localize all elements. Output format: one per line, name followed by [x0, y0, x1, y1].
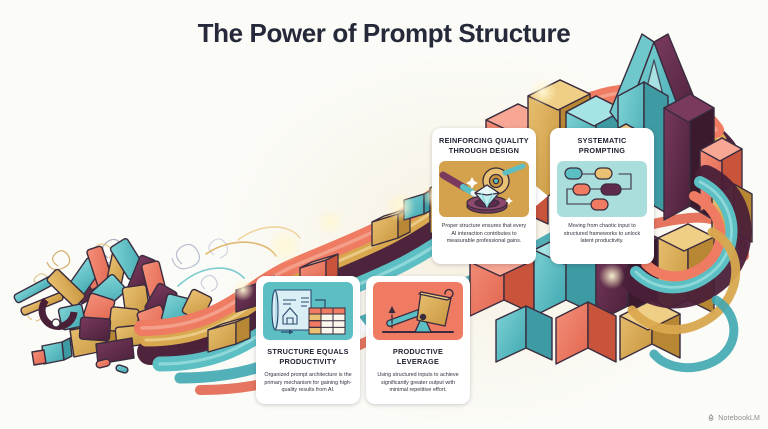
card-reinforcing-quality[interactable]: REINFORCING QUALITY THROUGH DESIGN: [432, 128, 536, 264]
card-systematic-prompting[interactable]: SYSTEMATIC PROMPTING Moving from chaotic…: [550, 128, 654, 264]
card-structure-equals-productivity[interactable]: STRUCTURE EQUALS PRODUCTIVITY Organized …: [256, 276, 360, 404]
card-body: Using structured inputs to achieve signi…: [372, 372, 464, 395]
lever-seesaw-icon: [373, 282, 463, 340]
watermark-label: NotebookLM: [718, 415, 760, 422]
card-title: PRODUCTIVE LEVERAGE: [372, 347, 464, 367]
page-title: The Power of Prompt Structure: [0, 18, 768, 49]
watermark: NotebookLM: [707, 414, 760, 422]
card-title: SYSTEMATIC PROMPTING: [556, 136, 648, 156]
infographic-canvas: The Power of Prompt Structure REINFORCIN…: [0, 0, 768, 429]
card-title: STRUCTURE EQUALS PRODUCTIVITY: [262, 347, 354, 367]
card-title: REINFORCING QUALITY THROUGH DESIGN: [438, 136, 530, 156]
card-body: Moving from chaotic input to structured …: [556, 223, 648, 246]
card-body: Proper structure ensures that every AI i…: [438, 223, 530, 246]
notebooklm-logo-icon: [707, 414, 715, 422]
card-body: Organized prompt architecture is the pri…: [262, 372, 354, 395]
card-productive-leverage[interactable]: PRODUCTIVE LEVERAGE Using structured inp…: [366, 276, 470, 404]
flowchart-icon: [557, 161, 647, 217]
diamond-polishing-icon: [439, 161, 529, 217]
blueprint-spreadsheet-icon: [263, 282, 353, 340]
